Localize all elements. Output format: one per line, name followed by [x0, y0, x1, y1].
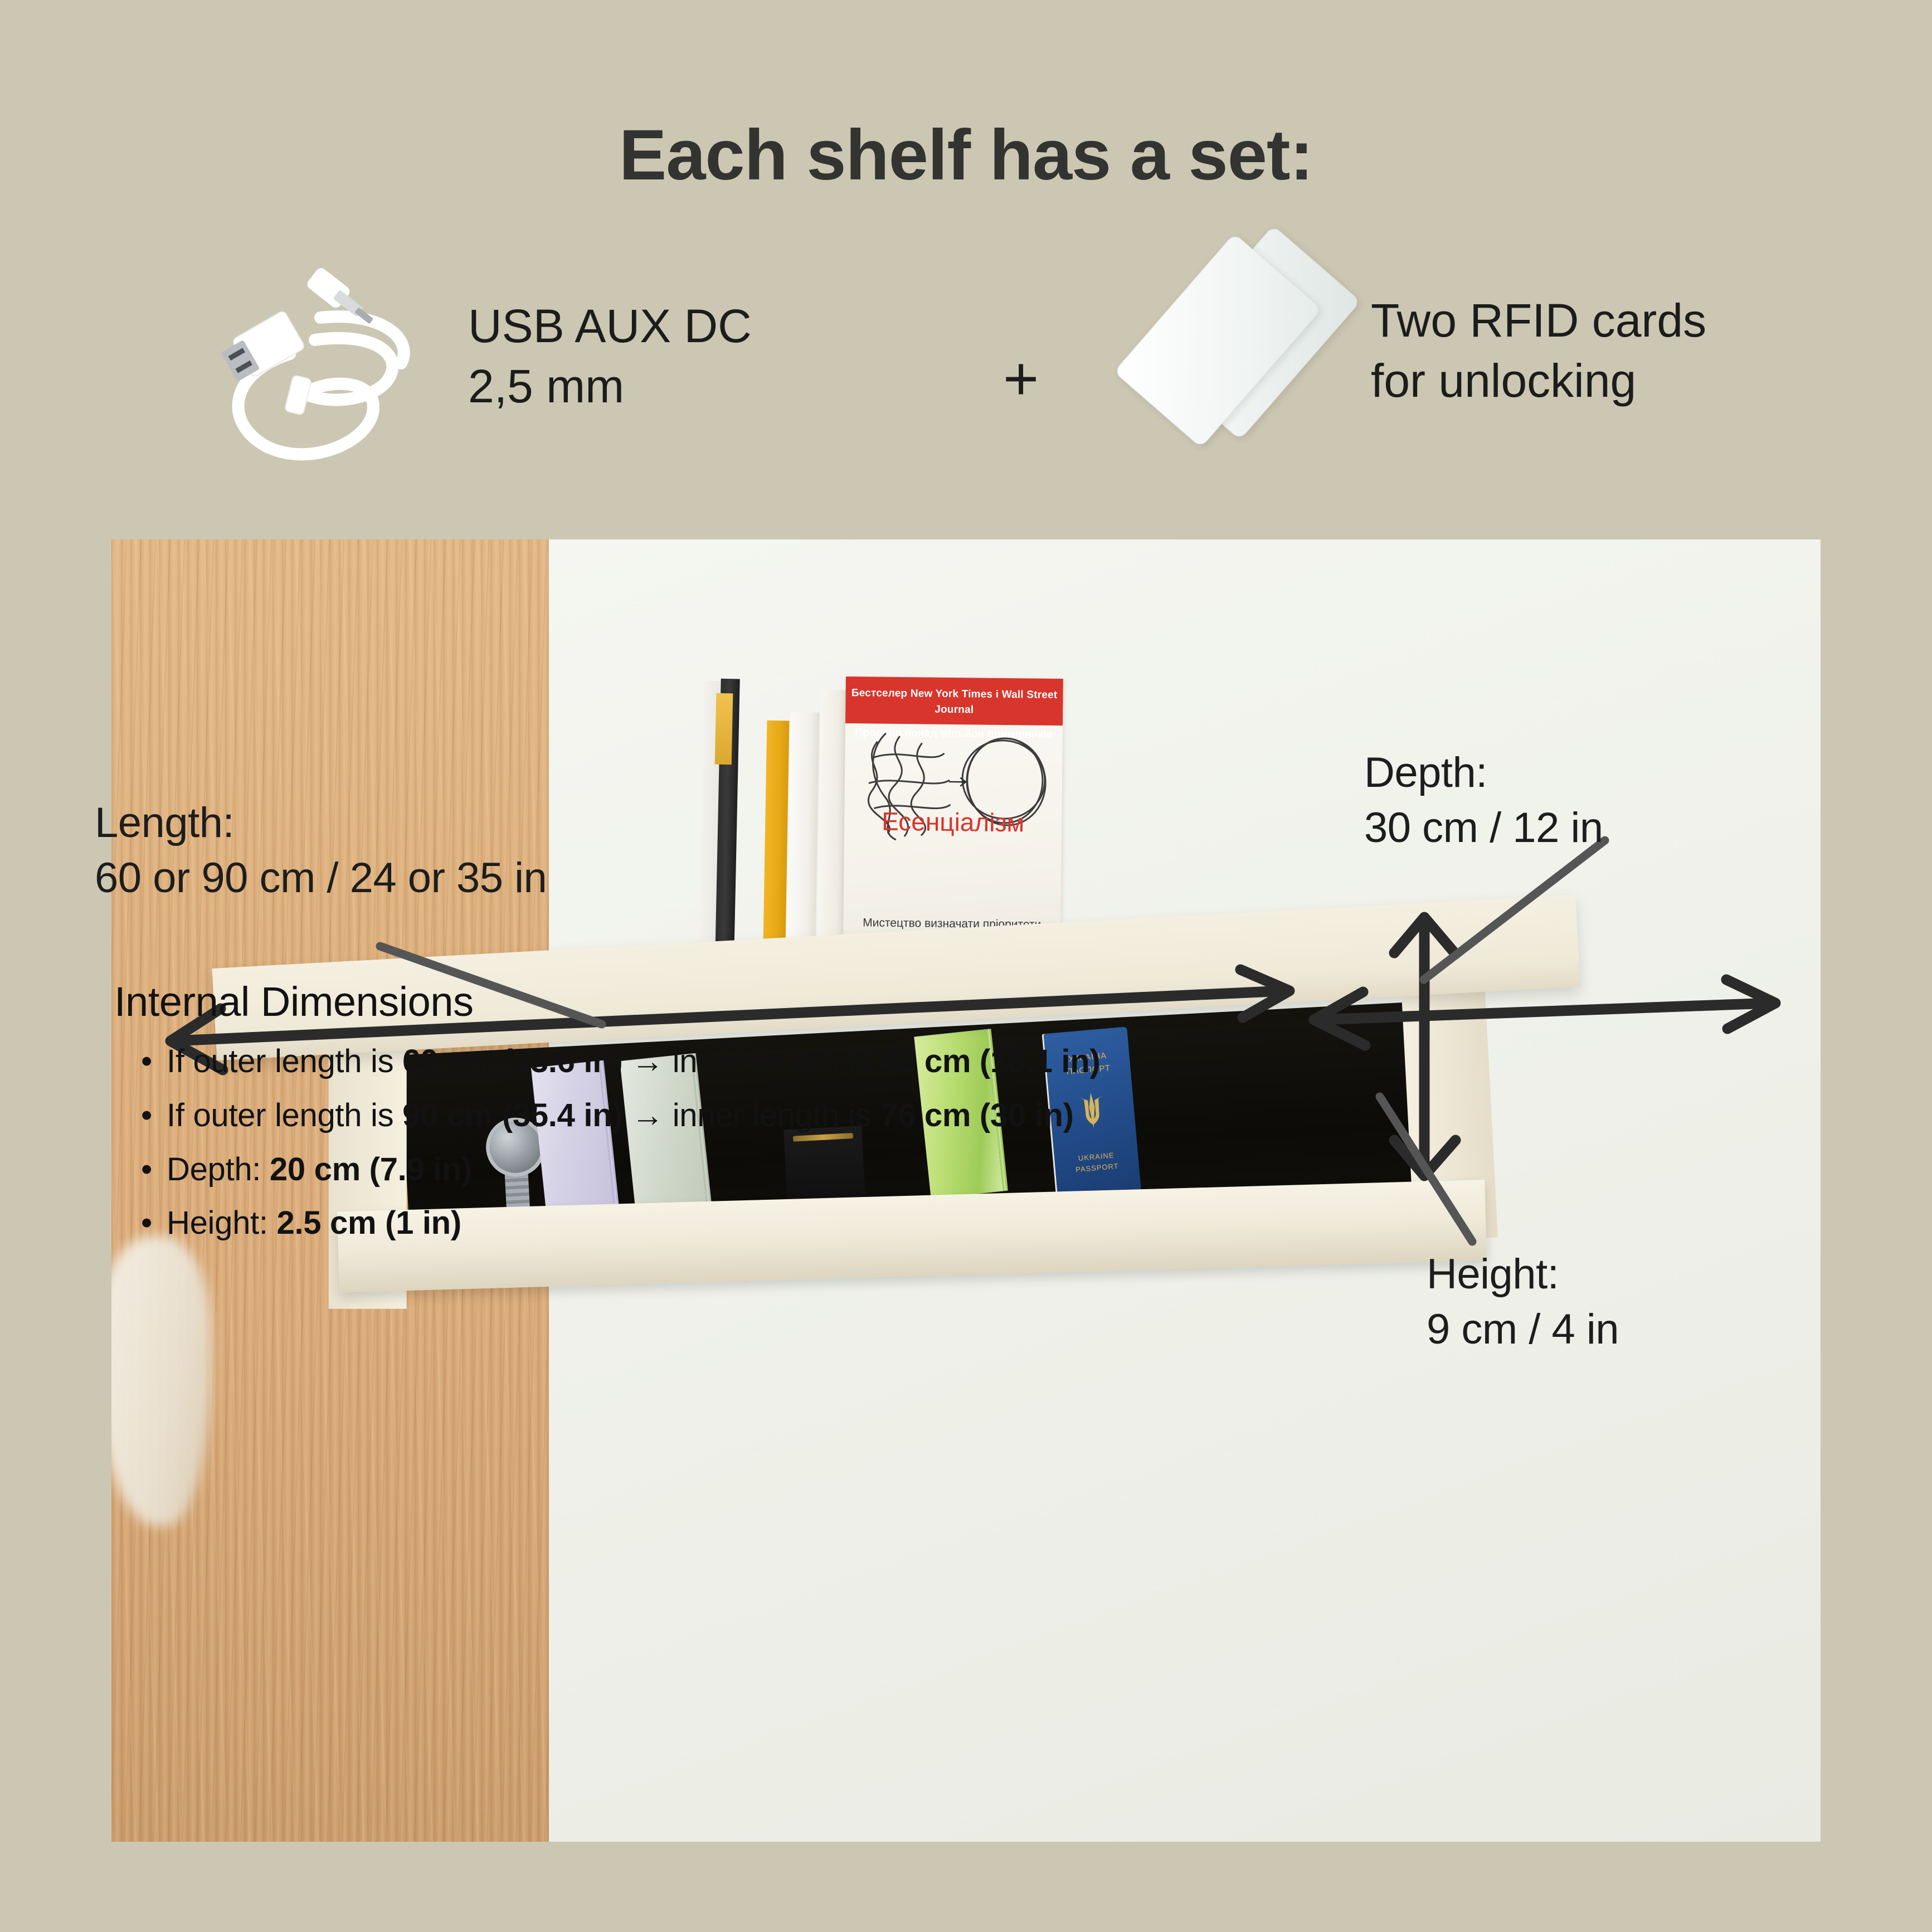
list-bullet: • — [141, 1204, 167, 1243]
list-item-text: If outer length is 90 cm (35.4 in) → inn… — [167, 1096, 1074, 1136]
accessories-row: USB AUX DC 2,5 mm + Two RFID cards for u… — [111, 240, 1821, 490]
usb-accessory: USB AUX DC 2,5 mm — [206, 240, 752, 474]
dim-value-outer: 2.5 cm (1 in) — [277, 1205, 461, 1241]
list-bullet: • — [141, 1150, 167, 1190]
page-title: Each shelf has a set: — [0, 114, 1932, 196]
dim-value-inner: 76 cm (30 in) — [880, 1097, 1073, 1133]
list-bullet: • — [141, 1042, 167, 1082]
list-bullet: • — [141, 1096, 167, 1136]
dim-value-outer: 60 cm (23.6 in) — [402, 1043, 622, 1079]
rfid-accessory: Two RFID cards for unlocking — [1092, 231, 1706, 471]
dim-arrow: → — [622, 1043, 672, 1079]
internal-dimensions-section: Internal Dimensions • If outer length is… — [114, 978, 1396, 1258]
dim-value-outer: 90 cm (35.4 in) — [402, 1097, 622, 1133]
dim-prefix: Depth: — [167, 1151, 270, 1188]
book-banner-line1: Бестселер New York Times і Wall Street J… — [845, 677, 1063, 718]
book-banner: Бестселер New York Times і Wall Street J… — [845, 677, 1063, 726]
dim-value-outer: 20 cm (7.9 in) — [270, 1151, 472, 1188]
rfid-accessory-label: Two RFID cards for unlocking — [1371, 291, 1706, 411]
book-arrow-icon — [948, 776, 969, 788]
list-item-text: If outer length is 60 cm (23.6 in) → inn… — [167, 1042, 1100, 1082]
book-bookmark — [715, 693, 733, 765]
list-item: • If outer length is 60 cm (23.6 in) → i… — [141, 1042, 1396, 1082]
dim-arrow: → — [622, 1097, 672, 1133]
usb-accessory-label: USB AUX DC 2,5 mm — [468, 296, 752, 416]
usb-cable-icon — [206, 240, 446, 474]
list-item: • If outer length is 90 cm (35.4 in) → i… — [141, 1096, 1396, 1136]
internal-dimensions-heading: Internal Dimensions — [114, 978, 1396, 1025]
dim-value-inner: 46 cm (18.1 in) — [880, 1043, 1100, 1079]
list-item: • Depth: 20 cm (7.9 in) — [141, 1150, 1396, 1190]
dim-prefix: If outer length is — [167, 1097, 402, 1133]
rfid-cards-icon — [1092, 231, 1343, 471]
dim-middle: inner length is — [673, 1097, 880, 1133]
list-item-text: Depth: 20 cm (7.9 in) — [167, 1150, 472, 1190]
list-item: • Height: 2.5 cm (1 in) — [141, 1204, 1396, 1243]
list-item-text: Height: 2.5 cm (1 in) — [167, 1204, 461, 1243]
vase-decor — [111, 1236, 212, 1526]
dim-prefix: If outer length is — [167, 1043, 402, 1079]
plus-separator: + — [1003, 348, 1039, 410]
dim-middle: inner length is — [673, 1043, 880, 1079]
book-title: Есенціалізм — [844, 806, 1062, 838]
dim-prefix: Height: — [167, 1205, 277, 1241]
